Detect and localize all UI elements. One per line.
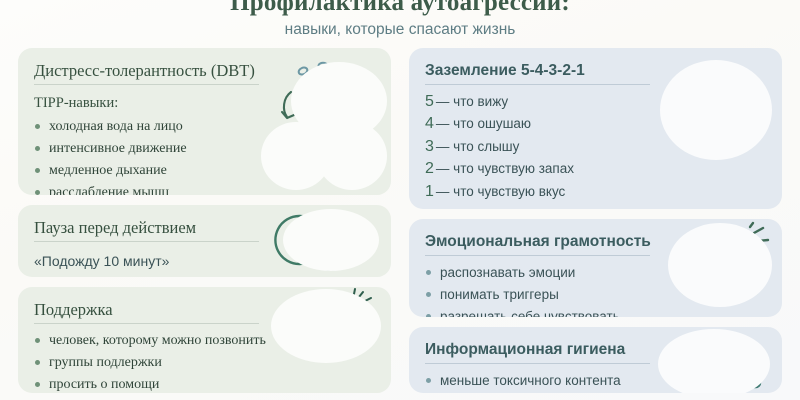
list-item: просить о помощи <box>34 377 375 392</box>
list-item: интенсивное движение <box>34 141 375 156</box>
card-title: Дистресс-толерантность (DBT) <box>34 61 375 87</box>
list-item: человек, которому можно позвонить <box>34 333 375 348</box>
list-item: распознавать эмоции <box>425 265 766 280</box>
bullet-list: холодная вода на лицо интенсивное движен… <box>34 119 375 195</box>
step-number: 2 <box>425 160 434 177</box>
card-support[interactable]: Поддержка человек, которому можно позвон… <box>18 287 391 393</box>
list-item: 1— что чувствую вкус <box>425 184 766 200</box>
step-text: — что чувствую вкус <box>436 184 565 199</box>
card-title: Пауза перед действием <box>34 218 375 244</box>
card-title: Информационная гигиена <box>425 340 766 366</box>
card-title: Эмоциональная грамотность <box>425 232 766 258</box>
bullet-list: распознавать эмоции понимать триггеры ра… <box>425 265 766 317</box>
step-text: — что ошушаю <box>436 116 531 131</box>
step-number: 4 <box>425 115 434 132</box>
page-header: Профилактика аутоагрессии: навыки, котор… <box>0 0 800 39</box>
bullet-list: человек, которому можно позвонить группы… <box>34 333 375 392</box>
list-item: расслабление мышц <box>34 185 375 195</box>
step-text: — что вижу <box>436 94 508 109</box>
right-column: Заземление 5-4-3-2-1 5— что вижу 4— что … <box>409 48 782 393</box>
card-subhead: TIPP-навыки: <box>34 95 375 112</box>
step-number: 5 <box>425 93 434 110</box>
list-item: группы подлержки <box>34 355 375 370</box>
list-item: 3— что слышу <box>425 139 766 155</box>
list-item: 4— что ошушаю <box>425 116 766 132</box>
step-number: 1 <box>425 183 434 200</box>
card-distress-tolerance[interactable]: Дистресс-толерантность (DBT) TIPP-навыки… <box>18 48 391 195</box>
card-quote: «Подожду 10 минут» <box>34 253 375 269</box>
card-information-hygiene[interactable]: Информационная гигиена меньше токсичного… <box>409 327 782 393</box>
list-item: медленное дыхание <box>34 163 375 178</box>
list-item: 2— что чувствую запах <box>425 161 766 177</box>
card-title: Заземление 5-4-3-2-1 <box>425 61 766 87</box>
grounding-steps-list: 5— что вижу 4— что ошушаю 3— что слышу 2… <box>425 94 766 200</box>
step-number: 3 <box>425 138 434 155</box>
card-grounding-54321[interactable]: Заземление 5-4-3-2-1 5— что вижу 4— что … <box>409 48 782 209</box>
card-title: Поддержка <box>34 300 375 326</box>
page-title: Профилактика аутоагрессии: <box>0 0 800 13</box>
left-column: Дистресс-толерантность (DBT) TIPP-навыки… <box>18 48 391 393</box>
list-item: разрешать себе чувствовать <box>425 309 766 317</box>
card-emotional-literacy[interactable]: Эмоциональная грамотность распознавать э… <box>409 219 782 317</box>
page-subtitle: навыки, которые спасают жизнь <box>0 21 800 39</box>
step-text: — что чувствую запах <box>436 161 574 176</box>
list-item: 5— что вижу <box>425 94 766 110</box>
bullet-list: меньше токсичного контента <box>425 373 766 388</box>
step-text: — что слышу <box>436 139 520 154</box>
list-item: понимать триггеры <box>425 287 766 302</box>
list-item: меньше токсичного контента <box>425 373 766 388</box>
card-pause-before-action[interactable]: Пауза перед действием «Подожду 10 минут» <box>18 205 391 277</box>
cards-board: Дистресс-толерантность (DBT) TIPP-навыки… <box>0 48 800 393</box>
list-item: холодная вода на лицо <box>34 119 375 134</box>
